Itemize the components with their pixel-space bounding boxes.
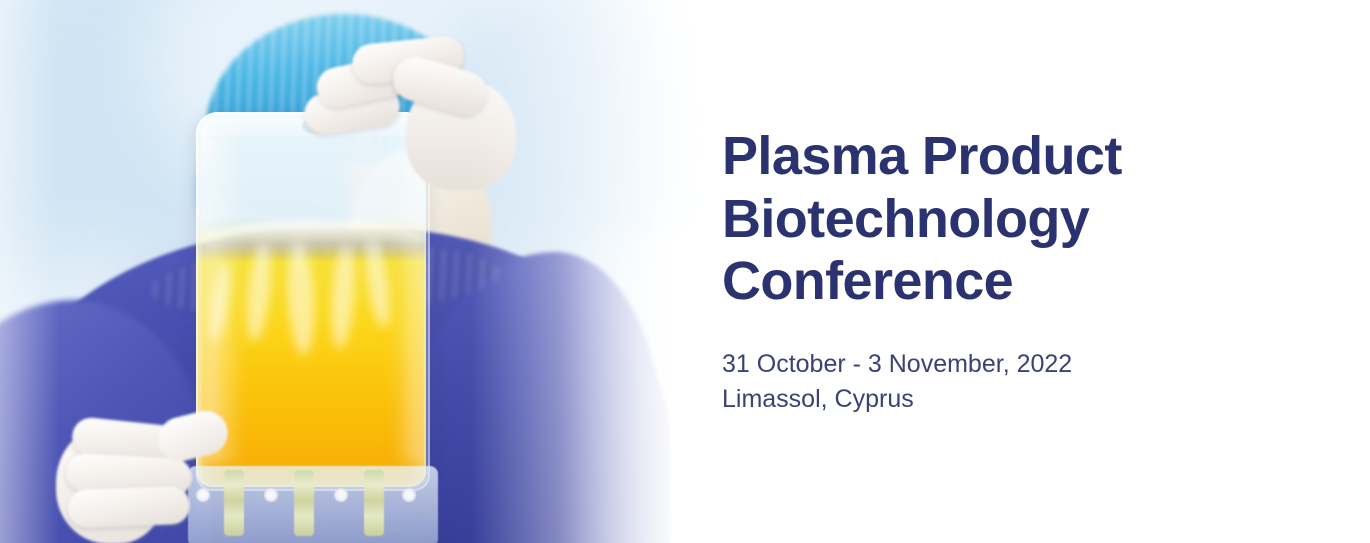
plasma-bag-port-eyelet xyxy=(264,488,278,502)
photo-left-vignette xyxy=(0,0,60,543)
plasma-bag-port xyxy=(364,470,384,536)
plasma-bag-highlight xyxy=(328,243,357,349)
plasma-bag-highlight xyxy=(243,241,275,343)
gloved-hand-top xyxy=(296,28,486,168)
page-title: Plasma Product Biotechnology Conference xyxy=(722,125,1282,313)
plasma-bag-port-eyelet xyxy=(334,488,348,502)
page-title-line-3: Conference xyxy=(722,250,1282,313)
plasma-bag-highlight xyxy=(285,239,317,355)
page-title-line-1: Plasma Product xyxy=(722,125,1282,188)
gloved-hand-bottom xyxy=(62,408,262,543)
page-title-line-2: Biotechnology xyxy=(722,188,1282,251)
glove-finger xyxy=(67,486,190,528)
plasma-bag-port xyxy=(294,470,314,536)
conference-banner: Plasma Product Biotechnology Conference … xyxy=(0,0,1370,543)
hero-photo xyxy=(0,0,720,543)
plasma-bag-port-eyelet xyxy=(402,488,416,502)
banner-text-block: Plasma Product Biotechnology Conference … xyxy=(722,0,1282,543)
event-dates: 31 October - 3 November, 2022 xyxy=(722,347,1282,383)
photo-right-fade xyxy=(470,0,720,543)
event-details: 31 October - 3 November, 2022 Limassol, … xyxy=(722,347,1282,418)
event-location: Limassol, Cyprus xyxy=(722,382,1282,418)
